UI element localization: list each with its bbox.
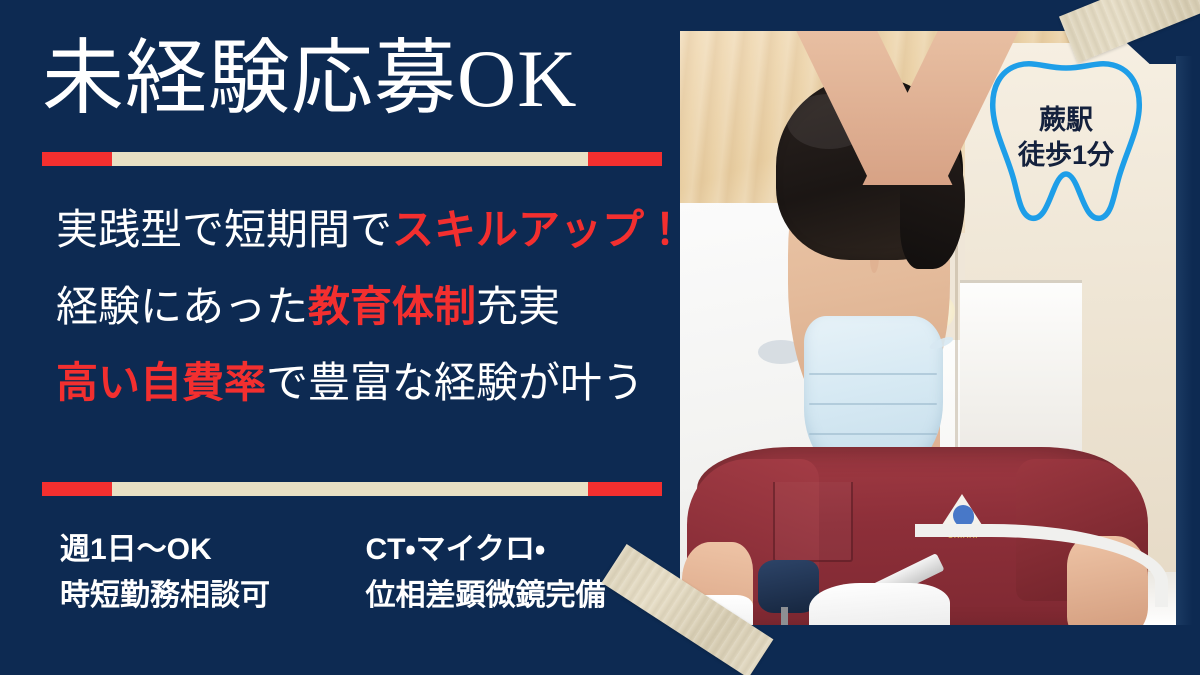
page-title: 未経験応募OK [42,38,642,120]
divider-segment-red-left [42,152,112,166]
scrubs-chest-pocket [773,482,853,561]
feature-columns: 週1日〜OK 時短勤務相談可 CT・マイクロ・ 位相差顕微鏡完備 [60,528,660,617]
feature-1-line-2: 時短勤務相談可 [60,574,305,618]
feature-column-schedule: 週1日〜OK 時短勤務相談可 [60,528,305,617]
benefit-1-text-plain: 実践型で短期間で [56,206,392,253]
feature-1-line-1: 週1日〜OK [60,528,305,572]
benefit-list: 実践型で短期間でスキルアップ！ 経験にあった教育体制充実 高い自費率で豊富な経験… [56,208,666,406]
badge-text: 蕨駅 徒歩1分 [986,103,1146,172]
benefit-1-text-highlight: スキルアップ！ [392,206,686,253]
divider-bottom [42,482,662,496]
benefit-2-text-highlight: 教育体制 [308,283,476,330]
benefit-2-text-plain-a: 経験にあった [56,283,308,330]
white-glove-right [809,583,951,625]
tray-stem [781,607,788,625]
divider-segment-red-right [588,152,662,166]
left-text-panel: 未経験応募OK 実践型で短期間でスキルアップ！ 経験にあった教育体制充実 高い自… [0,0,680,675]
mask-pleat-2 [809,403,937,405]
benefit-2-text-plain-b: 充実 [476,283,560,330]
station-access-badge: 蕨駅 徒歩1分 [986,57,1146,232]
benefit-3-text-highlight: 高い自費率 [56,359,266,406]
divider2-segment-red-right [588,482,662,496]
benefit-3-text-plain: で豊富な経験が叶う [266,359,644,406]
benefit-line-2: 経験にあった教育体制充実 [56,285,666,330]
mask-pleat-1 [809,373,937,375]
recruitment-banner: 未経験応募OK 実践型で短期間でスキルアップ！ 経験にあった教育体制充実 高い自… [0,0,1200,675]
mask-pleat-3 [809,433,937,435]
clinic-cabinet [960,280,1081,473]
divider2-segment-cream [112,482,588,496]
navy-edge-strip-right [1176,56,1200,631]
badge-line-1: 蕨駅 [986,103,1146,138]
divider-top [42,152,662,166]
divider-segment-cream [112,152,588,166]
divider2-segment-red-left [42,482,112,496]
benefit-line-1: 実践型で短期間でスキルアップ！ [56,208,666,253]
badge-line-2: 徒歩1分 [986,138,1146,173]
benefit-line-3: 高い自費率で豊富な経験が叶う [56,361,666,406]
